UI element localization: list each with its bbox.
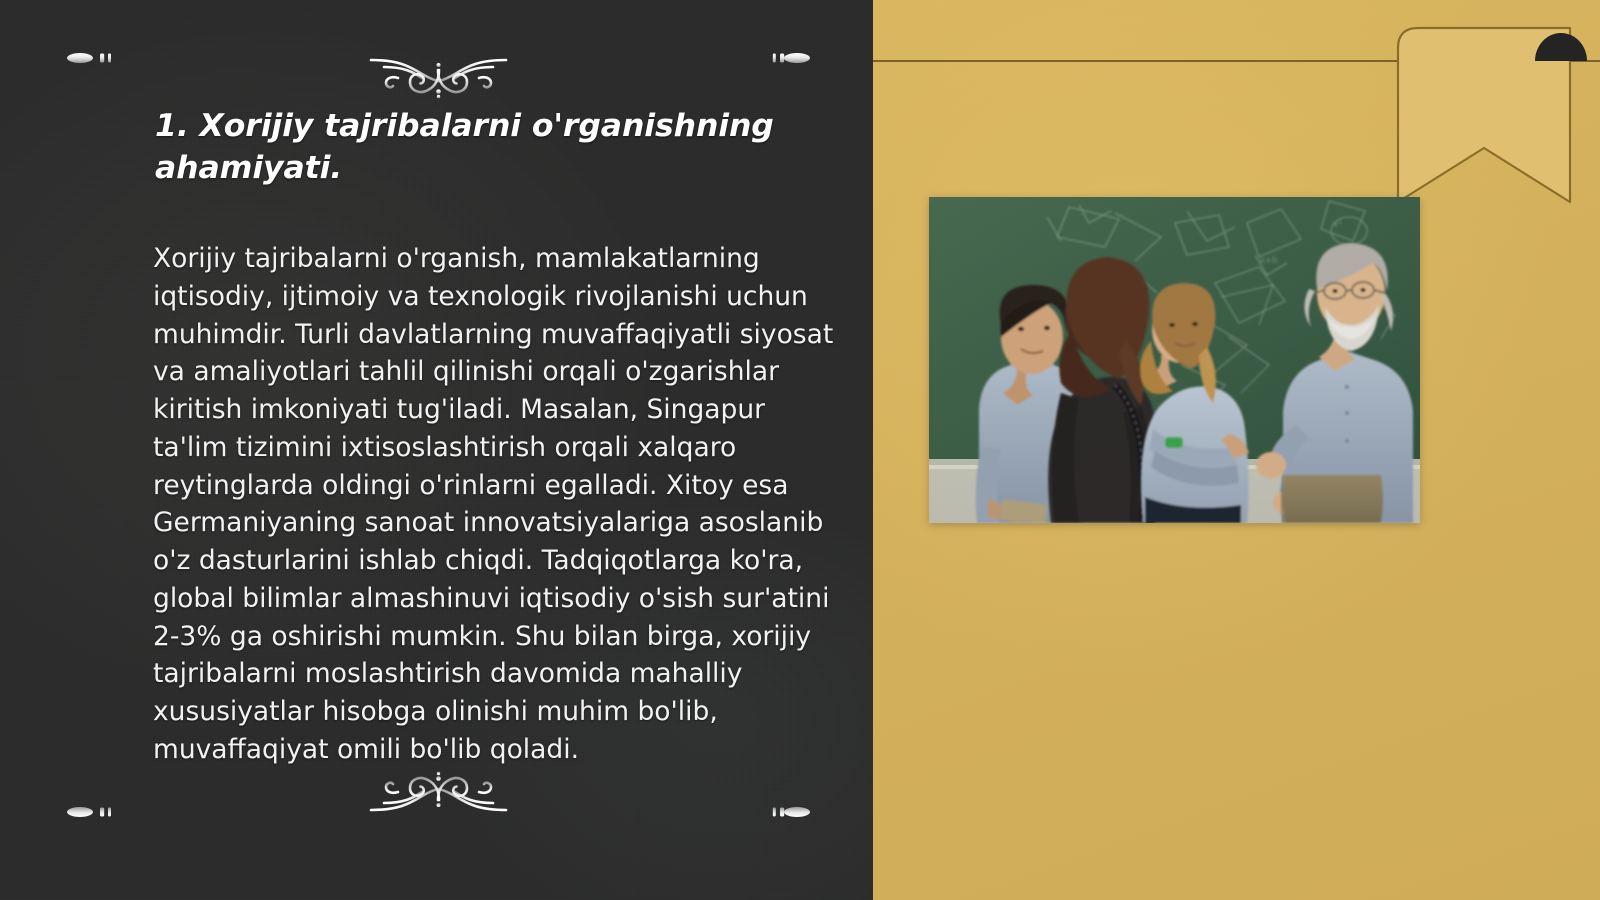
ornament-divider-bottom bbox=[66, 770, 811, 830]
dark-semicircle-icon bbox=[1535, 33, 1587, 61]
slide-title: 1. Xorijiy tajribalarni o'rganishning ah… bbox=[155, 106, 815, 190]
slide-root: 1. Xorijiy tajribalarni o'rganishning ah… bbox=[0, 0, 1600, 900]
ornament-divider-top bbox=[66, 40, 811, 100]
slide-body-text: Xorijiy tajribalarni o'rganish, mamlakat… bbox=[153, 240, 843, 769]
classroom-photo: a+b x² bbox=[929, 197, 1420, 523]
